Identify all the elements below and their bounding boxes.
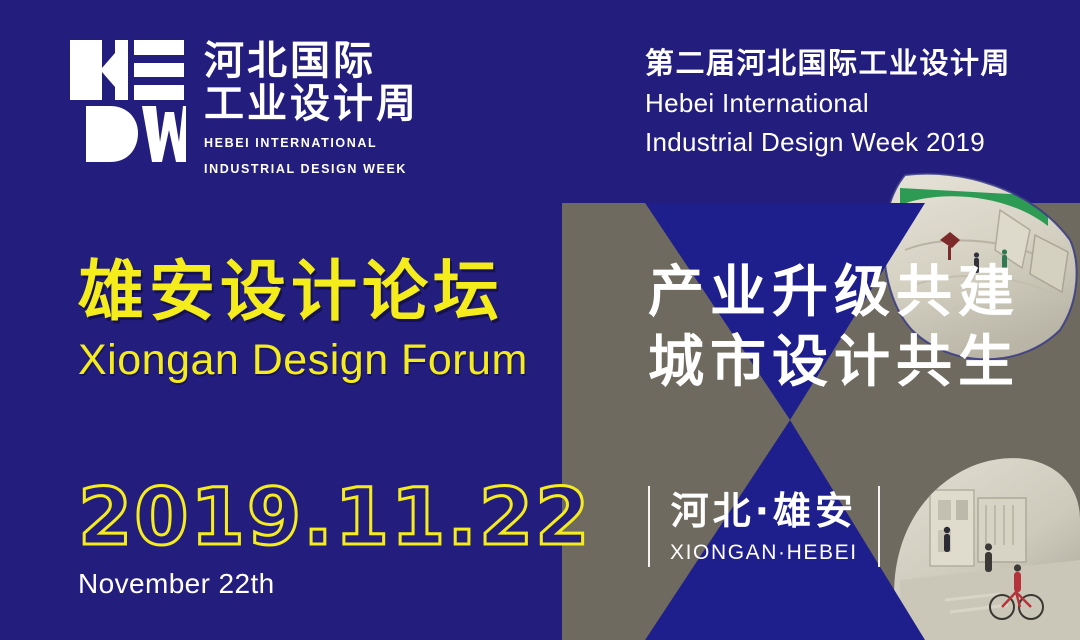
event-title-en-line2: Industrial Design Week 2019 [645,126,1011,158]
slogan-block: 产业升级共建 城市设计共生 [648,258,1020,398]
logo-en-line1: HEBEI INTERNATIONAL [204,135,419,152]
location-text: 河北·雄安 XIONGAN·HEBEI [650,486,878,567]
forum-title-cn: 雄安设计论坛 [78,255,578,329]
event-date-block: 2019.11.22 November 22th [78,476,591,600]
event-title-en-line1: Hebei International [645,87,1011,119]
location-block: 河北·雄安 XIONGAN·HEBEI [648,486,880,567]
hidw-monogram-icon [68,38,186,166]
forum-title-block: 雄安设计论坛 Xiongan Design Forum [78,255,578,385]
logo-cn-line2: 工业设计周 [204,83,419,126]
location-rule-right [878,486,880,567]
location-rule-left [648,486,650,567]
event-title-cn: 第二届河北国际工业设计周 [645,46,1011,80]
location-cn: 河北·雄安 [670,488,858,534]
location-en: XIONGAN·HEBEI [670,540,858,565]
poster-header: 河北国际 工业设计周 HEBEI INTERNATIONAL INDUSTRIA… [0,0,1080,203]
event-date: 2019.11.22 [78,476,591,560]
slogan-line-2: 城市设计共生 [648,328,1020,398]
hidw-logo: 河北国际 工业设计周 HEBEI INTERNATIONAL INDUSTRIA… [68,38,419,177]
forum-title-en: Xiongan Design Forum [78,335,578,385]
logo-cn-line1: 河北国际 [204,40,419,83]
event-title-block: 第二届河北国际工业设计周 Hebei International Industr… [645,46,1011,158]
event-date-english: November 22th [78,568,591,600]
slogan-line-1: 产业升级共建 [648,258,1020,328]
logo-wordmark: 河北国际 工业设计周 HEBEI INTERNATIONAL INDUSTRIA… [204,38,419,177]
event-poster: 河北国际 工业设计周 HEBEI INTERNATIONAL INDUSTRIA… [0,0,1080,640]
logo-en-line2: INDUSTRIAL DESIGN WEEK [204,161,419,178]
